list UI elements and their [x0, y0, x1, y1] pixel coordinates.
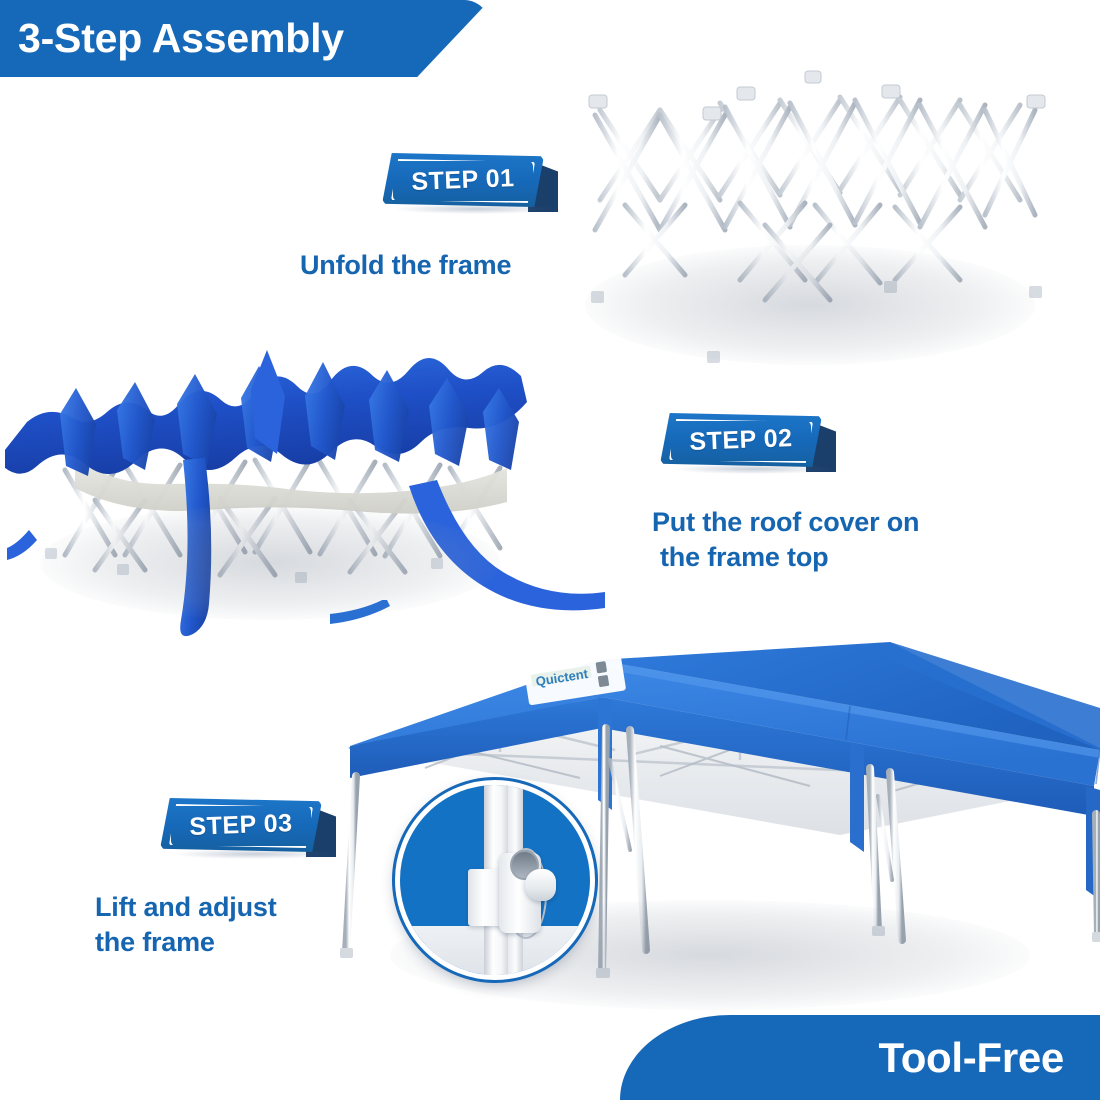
step-01-caption: Unfold the frame [300, 248, 620, 283]
step-02-caption-line-1: Put the roof cover on [652, 505, 1052, 540]
step-02-image [5, 340, 605, 640]
step-01-badge: STEP 01 [382, 153, 557, 209]
step-03-badge: STEP 03 [160, 798, 335, 854]
step-02-badge: STEP 02 [660, 413, 835, 469]
step-02-caption: Put the roof cover on the frame top [652, 505, 1052, 574]
step-01-image [565, 55, 1060, 385]
leg-lock-detail-callout [395, 780, 595, 980]
step-03-caption-line-1: Lift and adjust [95, 890, 395, 925]
step-01-badge-label: STEP 01 [381, 150, 545, 210]
step-01-ground-shadow [585, 245, 1035, 365]
tool-free-label: Tool-Free [878, 1037, 1064, 1079]
infographic-canvas: STEP 01 Unfold the frame [0, 0, 1100, 1100]
step-03-caption-line-2: the frame [95, 925, 395, 960]
step-01-caption-line-1: Unfold the frame [300, 248, 620, 283]
push-button-knob [525, 869, 555, 901]
step-02-caption-line-2: the frame top [660, 540, 1052, 575]
step-03-badge-label: STEP 03 [159, 795, 323, 855]
header-banner: 3-Step Assembly [0, 0, 490, 77]
step-03-caption: Lift and adjust the frame [95, 890, 395, 959]
step-02-badge-label: STEP 02 [659, 410, 823, 470]
page-title: 3-Step Assembly [18, 18, 344, 59]
footer-banner: Tool-Free [620, 1015, 1100, 1100]
